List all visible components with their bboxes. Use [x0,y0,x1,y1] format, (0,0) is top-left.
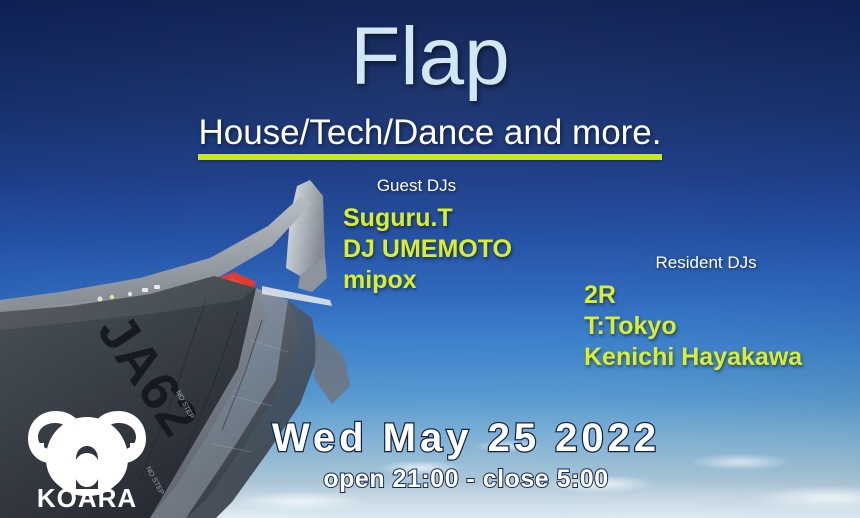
event-subtitle-text: House/Tech/Dance and more. [198,113,661,152]
resident-dj-name: Kenichi Hayakawa [584,342,802,373]
event-subtitle-wrap: House/Tech/Dance and more. [0,113,860,160]
event-subtitle: House/Tech/Dance and more. [196,113,663,160]
subtitle-underline [198,154,661,160]
guest-dj-name: DJ UMEMOTO [343,234,512,265]
koara-logo-text: KOARA [37,483,137,511]
guest-dj-name: Suguru.T [343,203,512,234]
event-title: Flap [0,14,860,100]
resident-dj-name: T:Tokyo [584,311,802,342]
guest-dj-name: mipox [343,265,512,296]
resident-dj-name: 2R [584,280,802,311]
resident-djs-heading: Resident DJs [584,252,802,274]
koara-logo: KOARA [26,399,148,511]
resident-djs-block: Resident DJs 2R T:Tokyo Kenichi Hayakawa [584,252,802,373]
guest-djs-block: Guest DJs Suguru.T DJ UMEMOTO mipox [343,175,512,296]
event-flyer: JA62 NO STEP NO STEP Flap House/Tech/Dan… [0,0,860,518]
guest-djs-heading: Guest DJs [343,175,512,197]
